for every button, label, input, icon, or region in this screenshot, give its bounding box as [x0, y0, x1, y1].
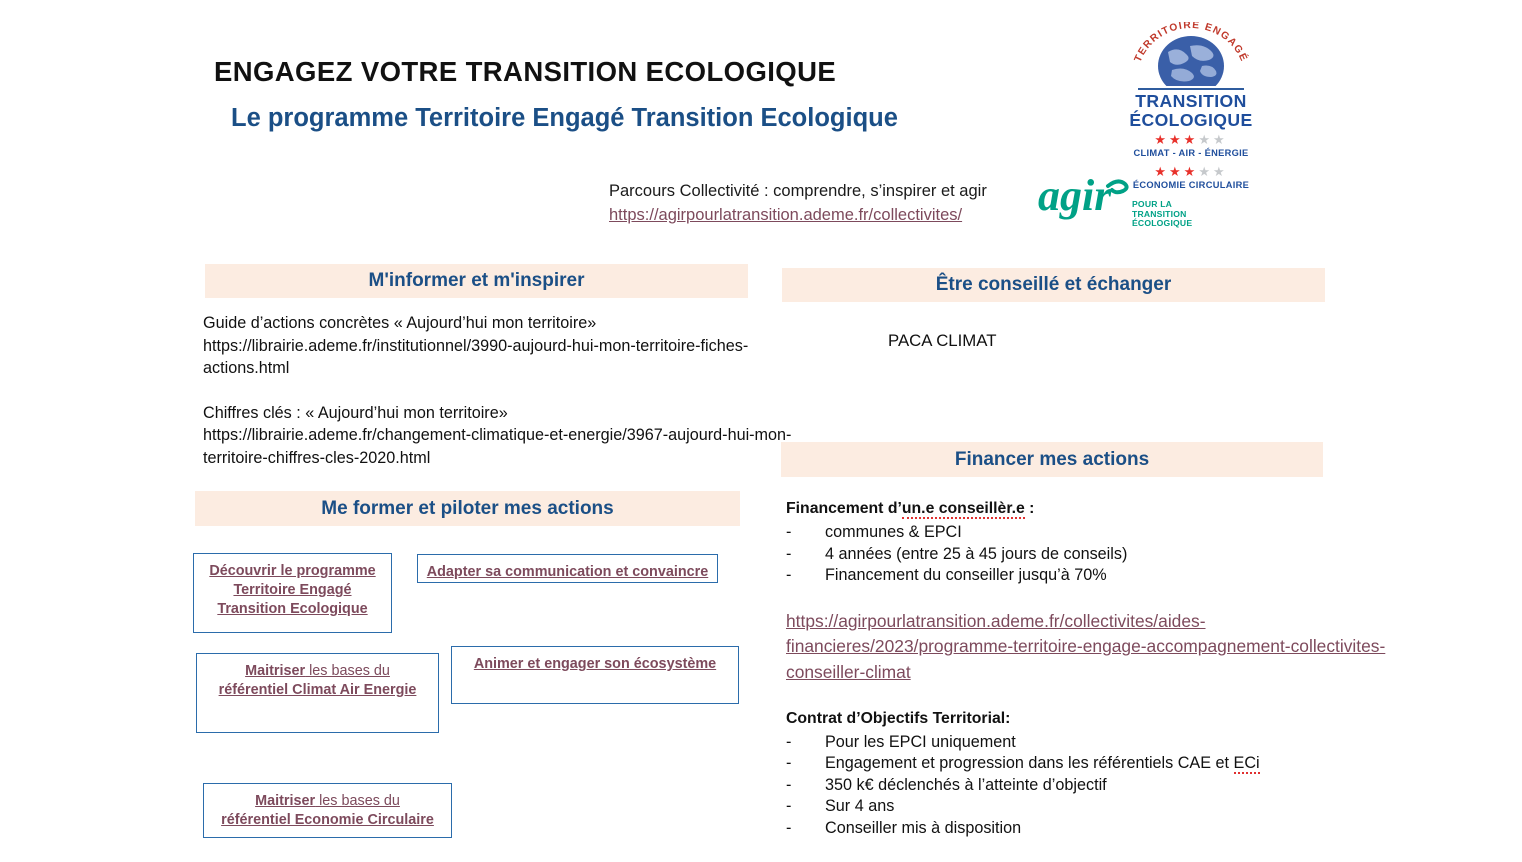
section-header-etre-conseille-label: Être conseillé et échanger [936, 274, 1172, 296]
contrat-objectifs-heading: Contrat d’Objectifs Territorial: [786, 708, 1406, 730]
maitriser-ec-link[interactable]: Maitriser les bases du référentiel Econo… [221, 792, 434, 830]
maitriser-ec-regular: les bases du [315, 793, 400, 809]
chiffres-cles-title: Chiffres clés : « Aujourd’hui mon territ… [203, 402, 803, 425]
box-maitriser-cae[interactable]: Maitriser les bases du référentiel Clima… [196, 653, 439, 733]
star-icon-empty: ★ [1213, 132, 1228, 147]
agir-tagline-line3: ÉCOLOGIQUE [1132, 219, 1192, 229]
list-item-label: 4 années (entre 25 à 45 jours de conseil… [825, 545, 1127, 563]
list-item-label: communes & EPCI [825, 523, 962, 541]
financer-content: Financement d’un.e conseillèr.e : -commu… [786, 498, 1406, 840]
section-header-me-former-label: Me former et piloter mes actions [321, 498, 613, 520]
contrat-objectifs-bullets: -Pour les EPCI uniquement-Engagement et … [786, 732, 1406, 840]
list-item: -Engagement et progression dans les réfé… [786, 753, 1406, 775]
svg-text:agir: agir [1038, 171, 1112, 220]
list-item-label: Pour les EPCI uniquement [825, 733, 1016, 751]
maitriser-ec-line2: référentiel Economie Circulaire [221, 812, 434, 828]
list-item-label: 350 k€ déclenchés à l’atteinte d’objecti… [825, 776, 1107, 794]
animer-ecosysteme-link[interactable]: Animer et engager son écosystème [474, 655, 716, 674]
dash-bullet-icon: - [786, 775, 791, 797]
maitriser-ec-bold: Maitriser [255, 793, 315, 809]
logo-wordmark-line1: TRANSITION [1128, 92, 1254, 111]
dash-bullet-icon: - [786, 522, 791, 544]
star-icon-empty: ★ [1198, 132, 1213, 147]
financement-conseiller-heading: Financement d’un.e conseillèr.e : [786, 498, 1406, 520]
parcours-collectivite-link[interactable]: https://agirpourlatransition.ademe.fr/co… [609, 203, 962, 227]
box-decouvrir-programme[interactable]: Découvrir le programme Territoire Engagé… [193, 553, 392, 633]
box-animer-ecosysteme[interactable]: Animer et engager son écosystème [451, 646, 739, 704]
agir-logo: agir POUR LA TRANSITION ÉCOLOGIQUE [1036, 166, 1208, 244]
agir-tagline: POUR LA TRANSITION ÉCOLOGIQUE [1132, 200, 1192, 229]
dash-bullet-icon: - [786, 753, 791, 775]
list-item: -350 k€ déclenchés à l’atteinte d’object… [786, 775, 1406, 797]
slide-canvas: ENGAGEZ VOTRE TRANSITION ECOLOGIQUE Le p… [0, 0, 1522, 862]
paca-climat-item: PACA CLIMAT [888, 330, 996, 353]
intro-block: Parcours Collectivité : comprendre, s’in… [609, 179, 987, 227]
maitriser-cae-regular: les bases du [305, 663, 390, 679]
financement-heading-post: : [1025, 500, 1035, 517]
list-item: -Financement du conseiller jusqu’à 70% [786, 565, 1406, 587]
star-rating-climat: ★★★★★ [1128, 133, 1254, 146]
dash-bullet-icon: - [786, 818, 791, 840]
territoire-engage-logo: TERRITOIRE ENGAGÉ TRANSITION ÉCOLOGIQUE … [1128, 22, 1254, 180]
star-icon-filled: ★ [1184, 132, 1199, 147]
star-caption-climat: CLIMAT - AIR - ÉNERGIE [1128, 148, 1254, 158]
financement-bullets: -communes & EPCI-4 années (entre 25 à 45… [786, 522, 1406, 587]
section-header-minformer-label: M'informer et m'inspirer [369, 270, 585, 292]
box-adapter-communication[interactable]: Adapter sa communication et convaincre [417, 554, 718, 583]
maitriser-cae-line2: référentiel Climat Air Energie [219, 682, 417, 698]
dash-bullet-icon: - [786, 544, 791, 566]
decouvrir-line3: Transition Ecologique [217, 601, 367, 617]
financement-heading-spellcheck: un.e conseillèr.e [902, 500, 1025, 519]
logo-wordmark-line2: ÉCOLOGIQUE [1128, 111, 1254, 130]
paragraph-spacer [203, 380, 803, 402]
guide-actions-url: https://librairie.ademe.fr/institutionne… [203, 335, 803, 380]
list-item: -communes & EPCI [786, 522, 1406, 544]
star-icon-filled: ★ [1154, 132, 1169, 147]
dash-bullet-icon: - [786, 565, 791, 587]
box-maitriser-economie-circulaire[interactable]: Maitriser les bases du référentiel Econo… [203, 783, 452, 838]
dash-bullet-icon: - [786, 796, 791, 818]
guide-actions-title: Guide d’actions concrètes « Aujourd’hui … [203, 312, 803, 335]
logo-divider [1138, 88, 1244, 90]
maitriser-cae-bold: Maitriser [245, 663, 305, 679]
page-title: ENGAGEZ VOTRE TRANSITION ECOLOGIQUE [214, 56, 836, 88]
financement-heading-pre: Financement d’ [786, 500, 902, 517]
section-header-minformer: M'informer et m'inspirer [205, 264, 748, 298]
list-item: -Pour les EPCI uniquement [786, 732, 1406, 754]
logo-wordmark: TRANSITION ÉCOLOGIQUE [1128, 92, 1254, 130]
decouvrir-line1: Découvrir le programme [209, 563, 375, 579]
globe-icon: TERRITOIRE ENGAGÉ [1128, 22, 1254, 86]
decouvrir-line2: Territoire Engagé [233, 582, 351, 598]
conseiller-climat-link[interactable]: https://agirpourlatransition.ademe.fr/co… [786, 609, 1398, 686]
decouvrir-programme-link[interactable]: Découvrir le programme Territoire Engagé… [209, 562, 375, 619]
list-item-label: Engagement et progression dans les référ… [825, 754, 1260, 774]
section-header-financer: Financer mes actions [781, 442, 1323, 477]
star-icon-empty: ★ [1213, 164, 1228, 179]
adapter-communication-link[interactable]: Adapter sa communication et convaincre [427, 563, 709, 582]
section-header-me-former: Me former et piloter mes actions [195, 491, 740, 526]
intro-line: Parcours Collectivité : comprendre, s’in… [609, 179, 987, 203]
page-subtitle: Le programme Territoire Engagé Transitio… [231, 104, 898, 133]
eci-spellcheck: ECi [1234, 754, 1260, 774]
star-icon-filled: ★ [1169, 132, 1184, 147]
list-item-label: Financement du conseiller jusqu’à 70% [825, 566, 1107, 584]
chiffres-cles-url: https://librairie.ademe.fr/changement-cl… [203, 424, 803, 469]
minformer-content: Guide d’actions concrètes « Aujourd’hui … [203, 312, 803, 470]
list-item: -Conseiller mis à disposition [786, 818, 1406, 840]
list-item-label: Conseiller mis à disposition [825, 819, 1021, 837]
dash-bullet-icon: - [786, 732, 791, 754]
maitriser-cae-link[interactable]: Maitriser les bases du référentiel Clima… [219, 662, 417, 700]
section-header-financer-label: Financer mes actions [955, 449, 1149, 471]
list-item-label: Sur 4 ans [825, 797, 894, 815]
list-item: -Sur 4 ans [786, 796, 1406, 818]
list-item: -4 années (entre 25 à 45 jours de consei… [786, 544, 1406, 566]
section-header-etre-conseille: Être conseillé et échanger [782, 268, 1325, 302]
